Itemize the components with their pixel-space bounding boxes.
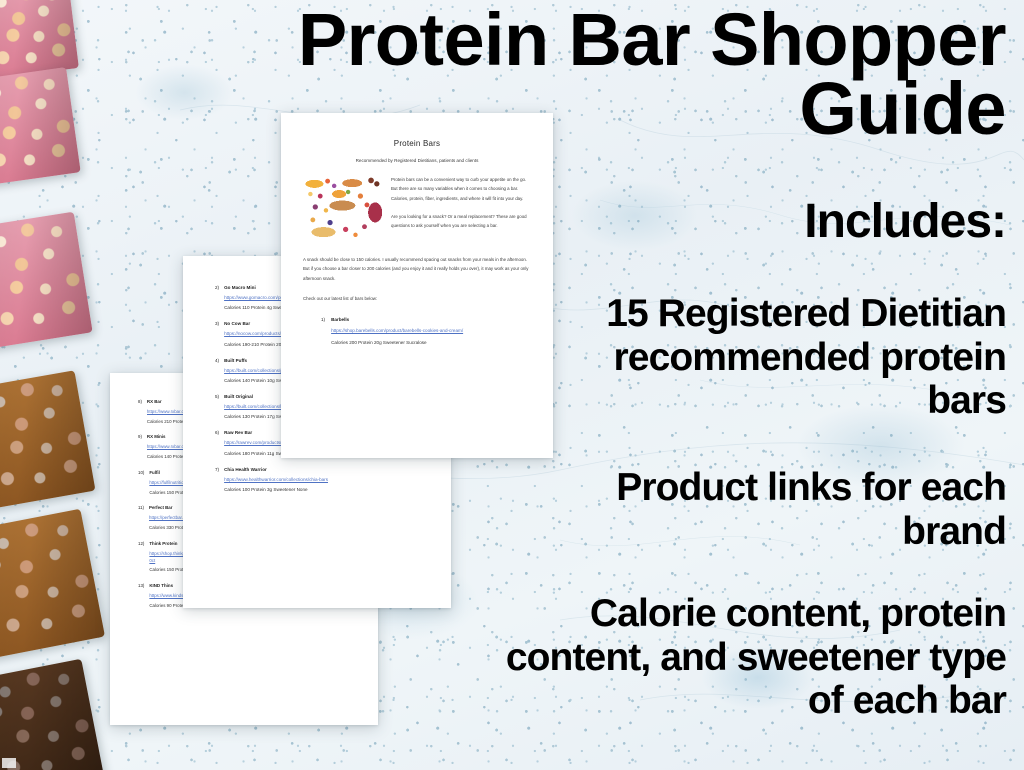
list-item-number: 7) — [215, 466, 219, 493]
list-item-number: 2) — [215, 284, 219, 311]
list-item-number: 5) — [215, 393, 219, 420]
list-item-link[interactable]: https://shop.barebells.com/product/bareb… — [331, 327, 531, 334]
list-item-number: 6) — [215, 429, 219, 456]
list-item-stats: Calories 200 Protein 20g Sweetener Sucra… — [331, 339, 531, 346]
list-item-name: Chia Health Warrior — [224, 466, 441, 473]
list-item-link[interactable]: https://www.healthwarrior.com/collection… — [224, 476, 441, 483]
list-item-number: 12) — [138, 541, 144, 574]
protein-bar-photo-6 — [0, 659, 104, 770]
list-item-number: 11) — [138, 505, 144, 531]
feature-bullet-2: Product links for each brand — [540, 466, 1006, 553]
list-item-number: 13) — [138, 583, 144, 609]
includes-label: Includes: — [804, 198, 1006, 247]
protein-bar-photo-5 — [0, 509, 105, 666]
feature-bullet-1: 15 Registered Dietitian recommended prot… — [540, 292, 1006, 423]
poster-canvas: 8) RX Bar https://www.rxbar.com/shop/pro… — [0, 0, 1024, 770]
list-item-number: 1) — [321, 316, 325, 346]
list-item-name: Barbells — [331, 316, 531, 323]
list-item-number: 9) — [138, 434, 142, 460]
list-item-stats: Calories 100 Protein 3g Sweetener None — [224, 486, 441, 493]
doc-paragraph-3: A snack should be close to 150 calories.… — [303, 255, 531, 283]
doc-paragraph-4: Check out our latest list of bars below: — [303, 294, 531, 303]
protein-bar-photo-2 — [0, 67, 81, 191]
document-page-top[interactable]: Protein Bars Recommended by Registered D… — [281, 113, 553, 458]
protein-bar-photo-4 — [0, 370, 95, 515]
list-item-number: 3) — [215, 320, 219, 347]
feature-bullet-3: Calorie content, protein content, and sw… — [500, 592, 1006, 723]
list-item-number: 4) — [215, 357, 219, 384]
corner-watermark — [2, 758, 16, 768]
doc-subtitle: Recommended by Registered Dietitians, pa… — [303, 158, 531, 163]
protein-bar-photo-3 — [0, 212, 93, 355]
list-item-number: 10) — [138, 470, 144, 496]
list-item-number: 8) — [138, 399, 142, 425]
page-title: Protein Bar Shopper Guide — [152, 6, 1006, 144]
protein-bars-illustration — [303, 175, 385, 243]
